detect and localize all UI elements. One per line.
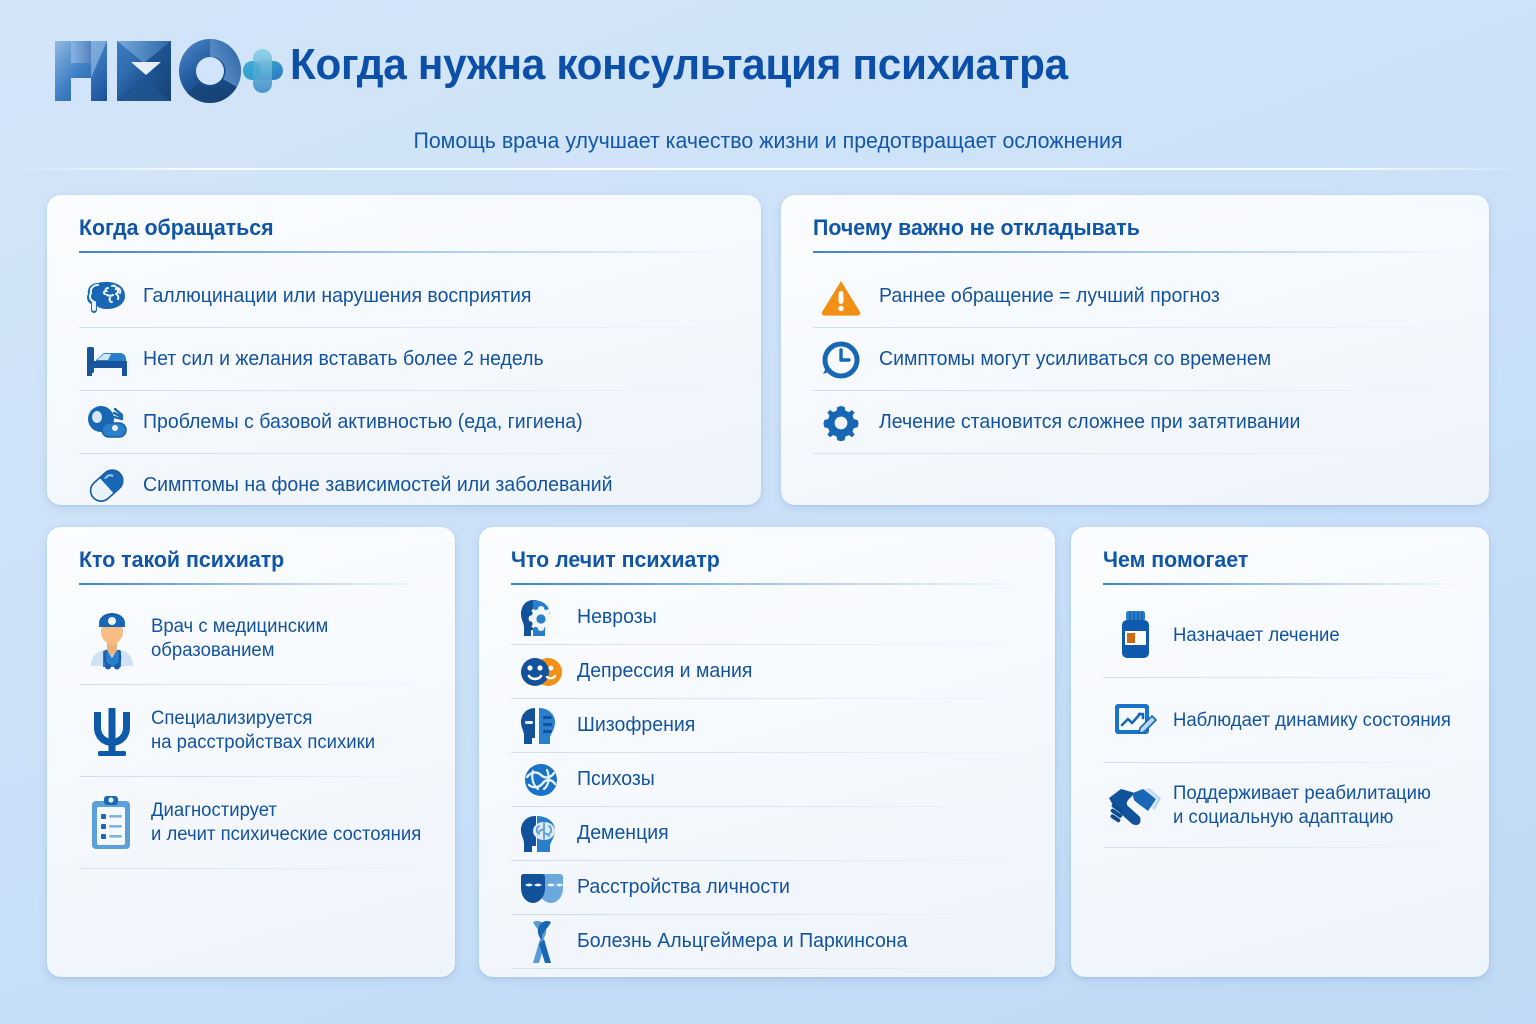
list-item[interactable]: Симптомы на фоне зависимостей или заболе…	[47, 454, 761, 505]
list-item-label: Нет сил и желания вставать более 2 недел…	[143, 347, 544, 372]
card-item-list: Врач с медицинским образованием Специали…	[47, 593, 455, 869]
card-when-to-consult: Когда обращаться Галлюцинаци	[47, 195, 761, 505]
doctor-icon	[79, 608, 145, 670]
list-item-label: Поддерживает реабилитацию и социальную а…	[1173, 782, 1431, 830]
clock-icon	[813, 340, 869, 380]
list-item-label-line1: Поддерживает реабилитацию	[1173, 783, 1431, 804]
list-item[interactable]: Назначает лечение	[1071, 593, 1489, 678]
list-item-label: Специализируется на расстройствах психик…	[151, 707, 375, 755]
list-item-label: Симптомы на фоне зависимостей или заболе…	[143, 473, 613, 498]
list-item[interactable]: Поддерживает реабилитацию и социальную а…	[1071, 763, 1489, 848]
page-title: Когда нужна консультация психиатра	[290, 40, 1068, 90]
list-item-label: Депрессия и мания	[577, 659, 752, 684]
head-gear-icon	[511, 596, 573, 640]
medicine-bottle-icon	[1103, 608, 1167, 664]
card-who-is-psychiatrist: Кто такой психиатр	[47, 527, 455, 977]
card-title: Что лечит психиатр	[511, 547, 720, 573]
card-item-list: Назначает лечение Наблюдает динамику сос…	[1071, 593, 1489, 848]
list-item-label: Расстройства личности	[577, 875, 790, 900]
list-item-label: Диагностирует и лечит психические состоя…	[151, 799, 421, 847]
list-item[interactable]: Неврозы	[479, 591, 1055, 645]
handshake-icon	[1103, 784, 1167, 828]
chart-board-icon	[1103, 698, 1167, 744]
card-title-divider	[79, 251, 729, 253]
list-item[interactable]: Деменция	[479, 807, 1055, 861]
list-item-label-line2: на расстройствах психики	[151, 732, 375, 753]
list-item[interactable]: Шизофрения	[479, 699, 1055, 753]
brain-icon	[79, 277, 135, 317]
list-item[interactable]: Болезнь Альцгеймера и Паркинсона	[479, 915, 1055, 969]
list-item[interactable]: Психозы	[479, 753, 1055, 807]
bed-icon	[79, 341, 135, 379]
list-item-label-line1: Специализируется	[151, 708, 312, 729]
list-item-label: Неврозы	[577, 605, 657, 630]
clipboard-icon	[79, 793, 145, 853]
theatre-masks-icon	[511, 868, 573, 908]
list-item-label-line1: Диагностирует	[151, 800, 277, 821]
card-why-not-delay: Почему важно не откладывать Раннее обращ…	[781, 195, 1489, 505]
psi-symbol-icon	[79, 702, 145, 760]
list-item[interactable]: Нет сил и желания вставать более 2 недел…	[47, 328, 761, 391]
list-item-label: Врач с медицинским образованием	[151, 615, 328, 663]
card-title-divider	[813, 251, 1458, 253]
list-item-label: Раннее обращение = лучший прогноз	[879, 284, 1220, 309]
card-title: Почему важно не откладывать	[813, 215, 1140, 241]
list-item-label-line2: образованием	[151, 640, 274, 661]
list-item-label: Наблюдает динамику состояния	[1173, 709, 1451, 733]
header-divider	[0, 168, 1536, 170]
list-item-label-line2: и социальную адаптацию	[1173, 807, 1393, 828]
list-item-label: Болезнь Альцгеймера и Паркинсона	[577, 929, 907, 954]
page-subtitle: Помощь врача улучшает качество жизни и п…	[23, 128, 1513, 154]
list-item[interactable]: Депрессия и мания	[479, 645, 1055, 699]
card-item-list: Неврозы Депрессия и мания	[479, 591, 1055, 969]
gear-icon	[813, 403, 869, 443]
warning-triangle-icon	[813, 278, 869, 316]
list-item[interactable]: Лечение становится сложнее при затятиван…	[781, 391, 1489, 454]
awareness-ribbon-icon	[511, 918, 573, 966]
page-header: Когда нужна консультация психиатра Помощ…	[0, 0, 1536, 178]
list-item[interactable]: Галлюцинации или нарушения восприятия	[47, 265, 761, 328]
list-item[interactable]: Наблюдает динамику состояния	[1071, 678, 1489, 763]
card-title-divider	[1103, 583, 1459, 585]
head-brain-icon	[511, 812, 573, 856]
plate-fork-icon	[79, 403, 135, 443]
list-item-label: Галлюцинации или нарушения восприятия	[143, 284, 531, 309]
card-what-psychiatrist-treats: Что лечит психиатр Неврозы	[479, 527, 1055, 977]
list-item[interactable]: Проблемы с базовой активностью (еда, гиг…	[47, 391, 761, 454]
list-item-label: Шизофрения	[577, 713, 695, 738]
list-item-label: Психозы	[577, 767, 655, 792]
list-item-label-line1: Врач с медицинским	[151, 616, 328, 637]
brand-logo	[47, 33, 283, 109]
list-item-label-line2: и лечит психические состояния	[151, 824, 421, 845]
list-item[interactable]: Врач с медицинским образованием	[47, 593, 455, 685]
head-tangle-icon	[511, 759, 573, 801]
list-item-label: Проблемы с базовой активностью (еда, гиг…	[143, 410, 583, 435]
card-how-it-helps: Чем помогает Назначает лечение	[1071, 527, 1489, 977]
neo-plus-logo-icon	[47, 33, 283, 109]
list-item[interactable]: Специализируется на расстройствах психик…	[47, 685, 455, 777]
card-item-list: Раннее обращение = лучший прогноз Симпто…	[781, 265, 1489, 454]
list-item[interactable]: Диагностирует и лечит психические состоя…	[47, 777, 455, 869]
card-title-divider	[79, 583, 425, 585]
card-item-list: Галлюцинации или нарушения восприятия Не…	[47, 265, 761, 505]
split-head-icon	[511, 705, 573, 747]
capsule-pill-icon	[79, 465, 135, 506]
list-item[interactable]: Симптомы могут усиливаться со временем	[781, 328, 1489, 391]
list-item-label: Симптомы могут усиливаться со временем	[879, 347, 1271, 372]
two-masks-faces-icon	[511, 653, 573, 691]
card-title-divider	[511, 583, 1025, 585]
list-item[interactable]: Расстройства личности	[479, 861, 1055, 915]
list-item-label: Лечение становится сложнее при затятиван…	[879, 410, 1300, 435]
card-title: Чем помогает	[1103, 547, 1248, 573]
card-title: Когда обращаться	[79, 215, 274, 241]
list-item-label: Назначает лечение	[1173, 624, 1340, 648]
card-title: Кто такой психиатр	[79, 547, 284, 573]
list-item-label: Деменция	[577, 821, 669, 846]
list-item[interactable]: Раннее обращение = лучший прогноз	[781, 265, 1489, 328]
